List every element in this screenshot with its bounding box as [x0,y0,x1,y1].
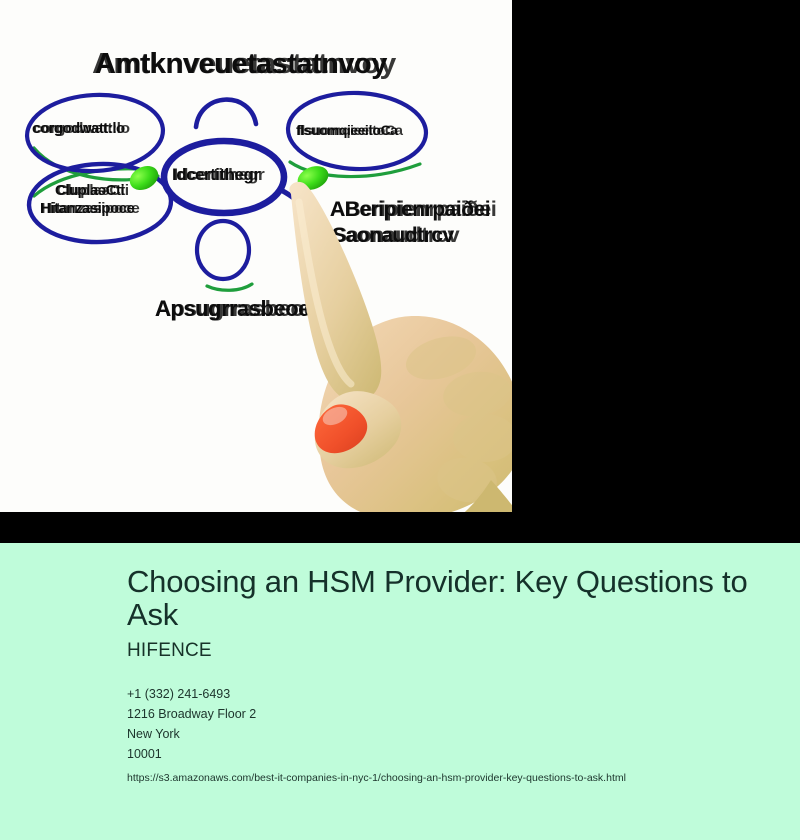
diagram-label-center: Idcertithegr Idcertithegr [172,165,312,187]
diagram-label-right-lower-line1: ABeripienrpaiðei ABeripienrpaiðei [330,198,512,224]
diagram-label-right-lower-line2: Saonaudtrcv Saonaudtrcv [332,224,512,250]
source-url-link[interactable]: https://s3.amazonaws.com/best-it-compani… [127,770,760,786]
contact-postal-code: 10001 [127,744,760,764]
diagram-label-left-top: corgodwatt:lo corgodwatt:lo [32,120,182,140]
page-title: Choosing an HSM Provider: Key Questions … [127,565,760,632]
diagram-heading-text: Amtknveuetastatnvoy Amtknveuetastatnvoy [95,48,395,82]
contact-city: New York [127,724,760,744]
contact-block: +1 (332) 241-6493 1216 Broadway Floor 2 … [127,684,760,764]
brand-name: HIFENCE [127,640,760,662]
diagram-label-left-bottom-line2: Hitanzasipoce Hitanzasipoce [40,200,190,220]
arc-top [196,100,256,127]
contact-street: 1216 Broadway Floor 2 [127,704,760,724]
article-hero-image: Amtknveuetastatnvoy Amtknveuetastatnvoy … [0,0,512,512]
article-info-card: Choosing an HSM Provider: Key Questions … [0,543,800,840]
stroke-center-tail [281,190,302,208]
diagram-label-bottom: Apsugrrasbeoe Apsugrrasbeoe [155,296,335,324]
contact-phone[interactable]: +1 (332) 241-6493 [127,684,760,704]
media-letterbox-band: Amtknveuetastatnvoy Amtknveuetastatnvoy … [0,0,800,543]
circle-bottom [197,221,249,279]
diagram-label-right-top: flsuomqieeitoCa flsuomqieeitoCa [296,122,436,142]
